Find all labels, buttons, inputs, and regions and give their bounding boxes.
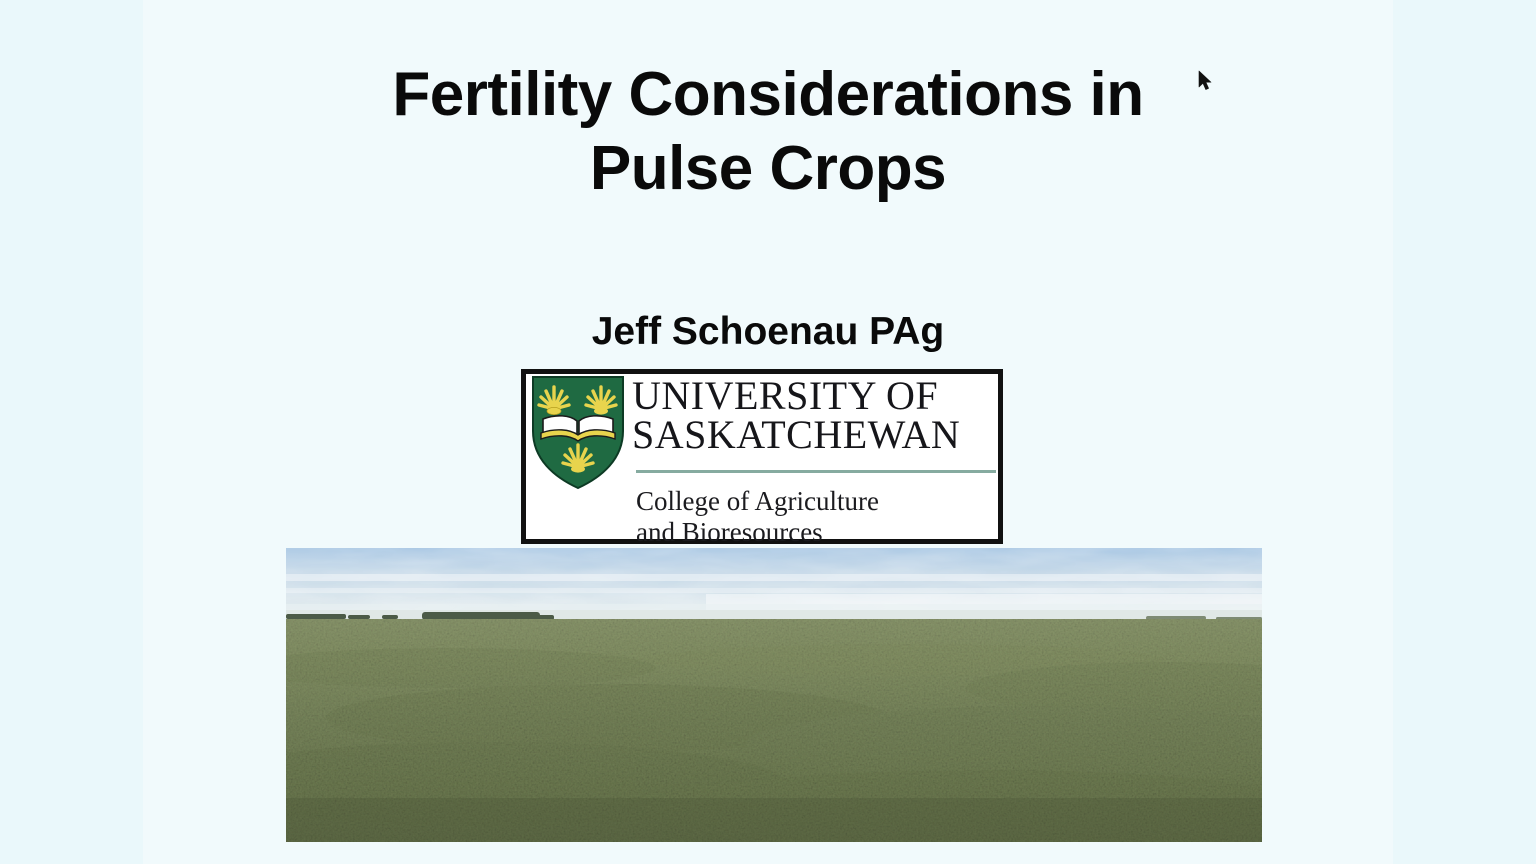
logo-divider <box>636 470 996 473</box>
usask-shield-icon <box>530 375 626 491</box>
usask-wordmark: UNIVERSITY OF SASKATCHEWAN <box>626 374 998 454</box>
college-name: College of Agriculture and Bioresources <box>636 486 879 548</box>
university-logo: UNIVERSITY OF SASKATCHEWAN College of Ag… <box>521 369 1003 544</box>
pulse-crop-field-photo <box>286 548 1262 842</box>
slide-canvas: Fertility Considerations in Pulse Crops … <box>143 0 1393 864</box>
presentation-frame: Fertility Considerations in Pulse Crops … <box>0 0 1536 864</box>
logo-upper-row: UNIVERSITY OF SASKATCHEWAN <box>526 374 998 466</box>
wordmark-line-2: SASKATCHEWAN <box>632 415 998 454</box>
page-title: Fertility Considerations in Pulse Crops <box>143 58 1393 206</box>
author-name: Jeff Schoenau PAg <box>143 308 1393 356</box>
wordmark-line-1: UNIVERSITY OF <box>632 376 998 415</box>
